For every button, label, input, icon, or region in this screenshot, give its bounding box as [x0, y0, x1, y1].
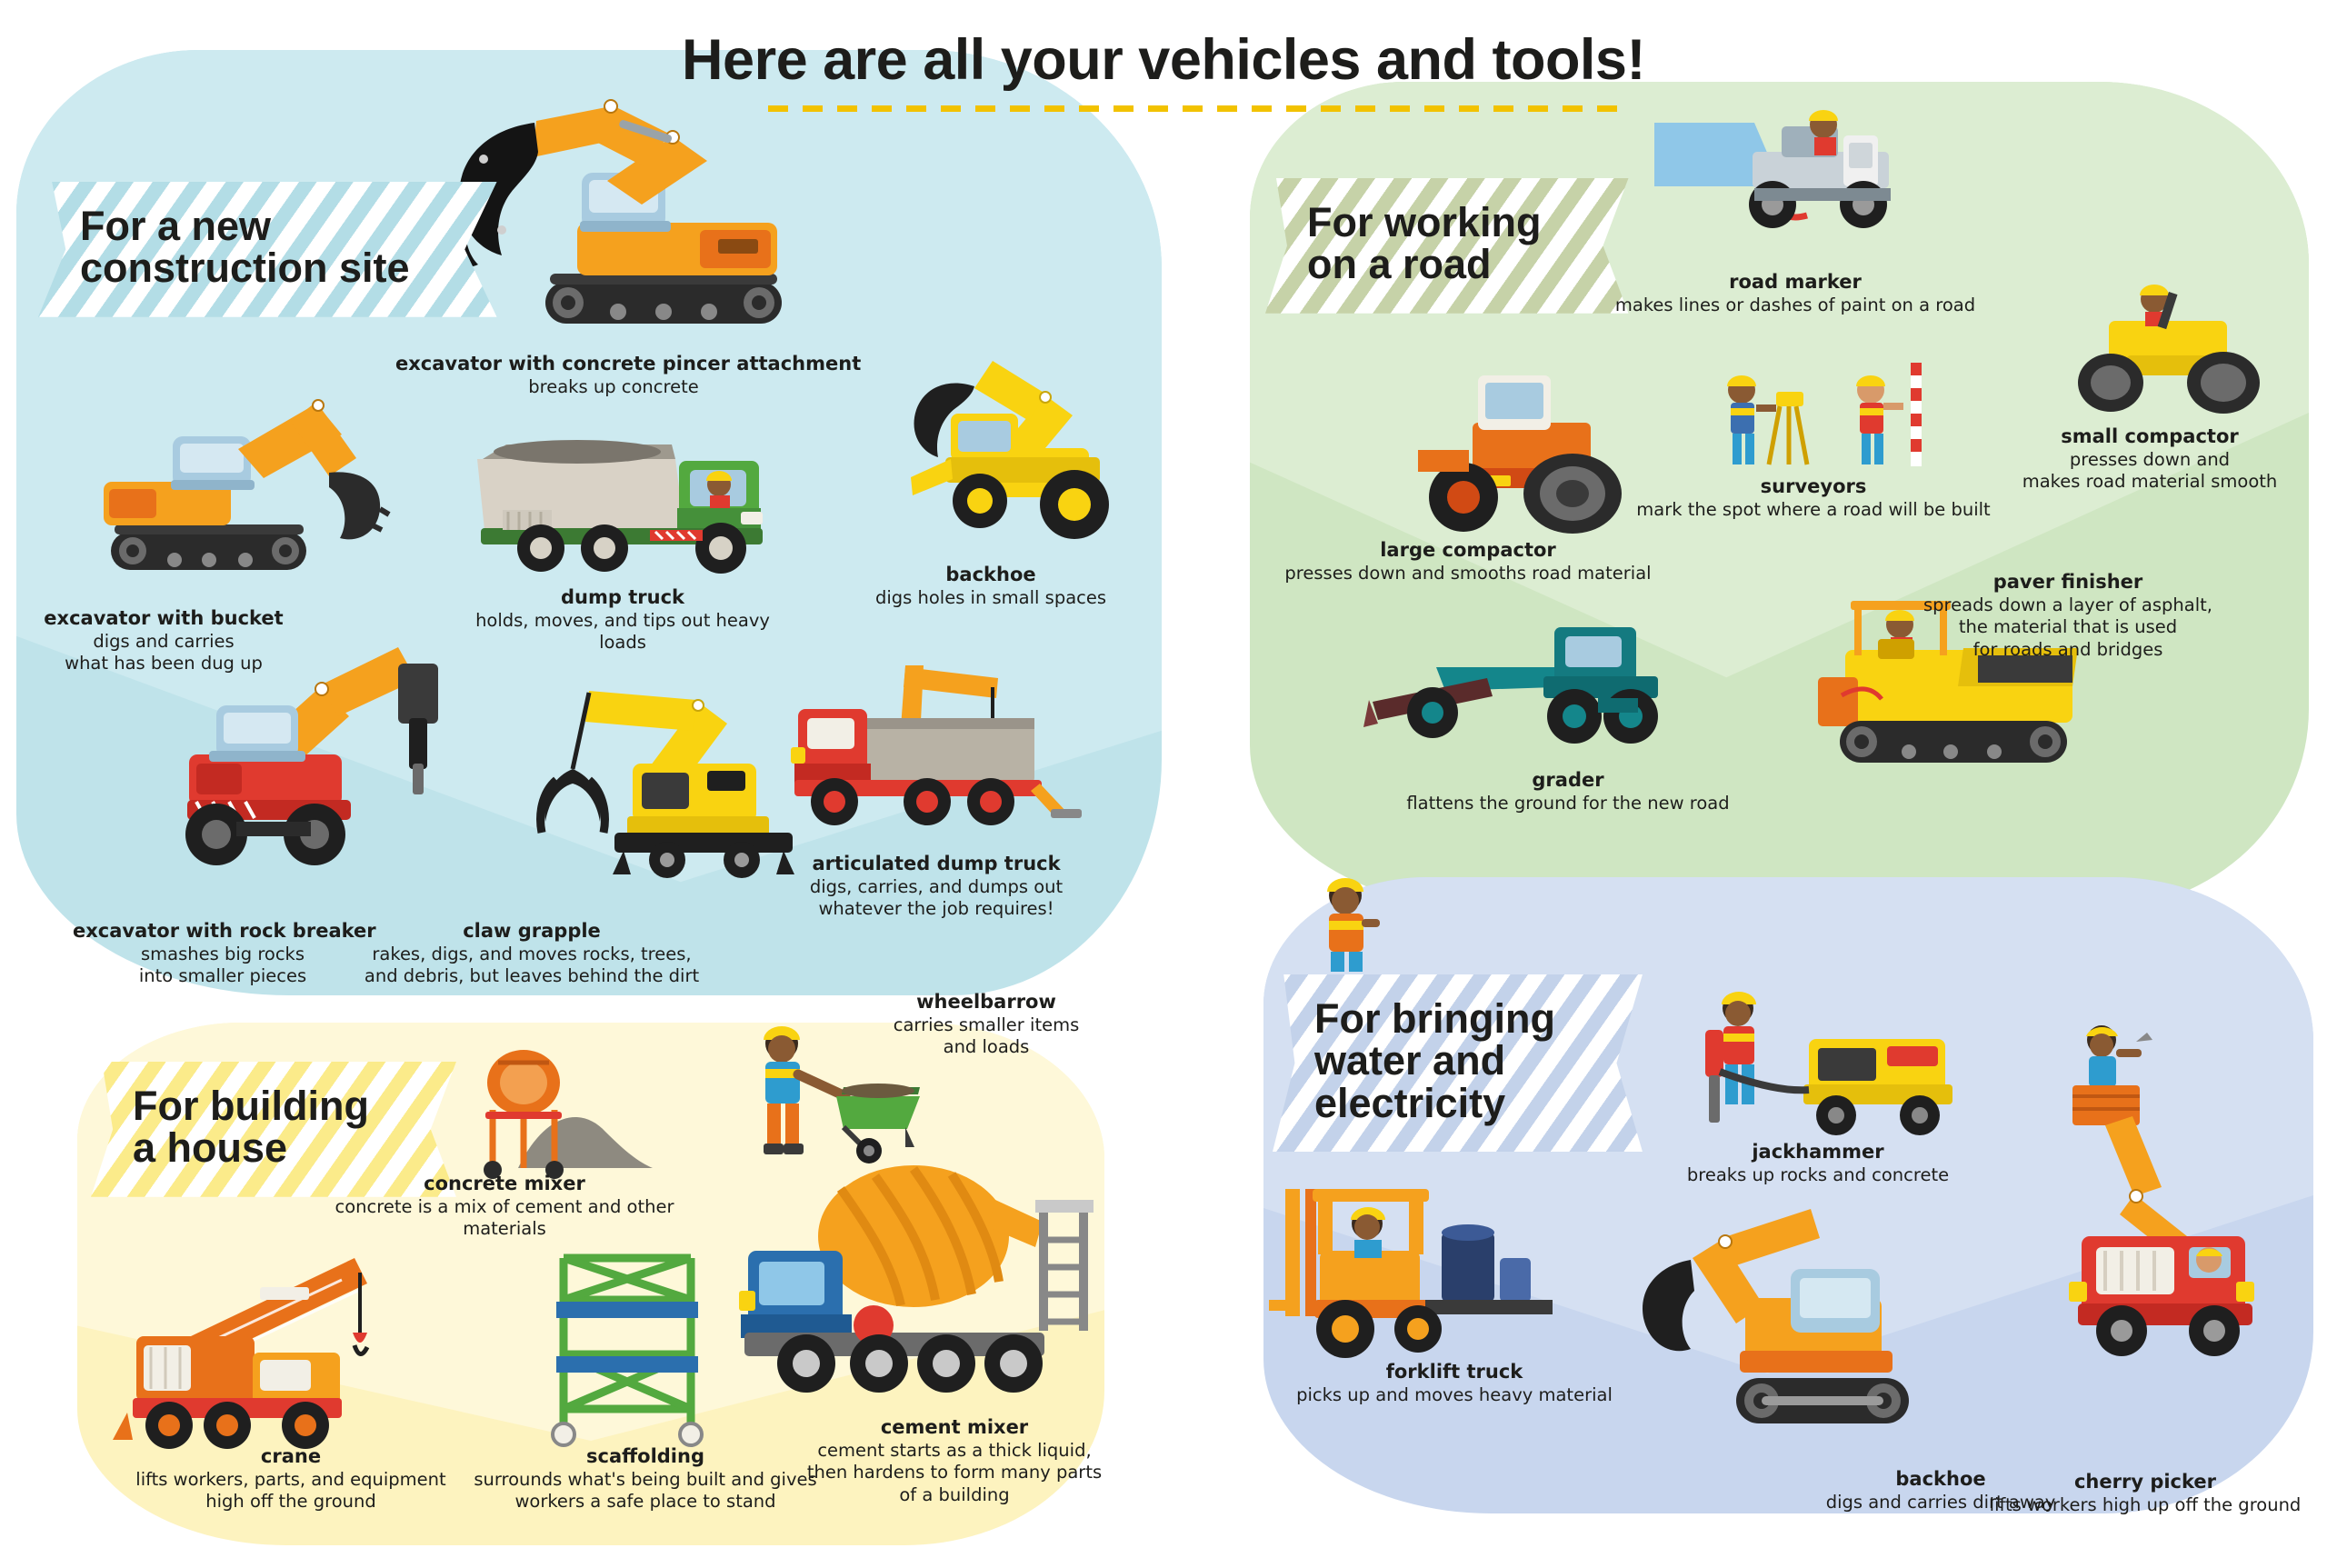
caption-forklift-truck: forklift truck picks up and moves heavy …	[1273, 1361, 1636, 1406]
item-name: large compactor	[1273, 539, 1663, 563]
illustration-grader	[1336, 591, 1700, 773]
item-name: excavator with rock breaker	[73, 920, 373, 944]
item-name: grader	[1382, 769, 1754, 793]
caption-cherry-picker: cherry picker lifts workers high up off …	[1963, 1471, 2327, 1516]
item-name: jackhammer	[1663, 1141, 1972, 1164]
item-description: lifts workers, parts, and equipment high…	[109, 1469, 473, 1513]
illustration-small-compactor	[2045, 268, 2291, 432]
caption-grader: grader flattens the ground for the new r…	[1382, 769, 1754, 814]
illustration-backhoe-site	[864, 350, 1127, 559]
illustration-surveyors	[1700, 359, 1972, 486]
section-heading-text: For building a house	[133, 1085, 369, 1170]
item-name: cherry picker	[1963, 1471, 2327, 1494]
item-description: cement starts as a thick liquid, then ha…	[800, 1440, 1109, 1507]
item-name: backhoe	[873, 564, 1109, 587]
item-description: lifts workers high up off the ground	[1963, 1494, 2327, 1517]
caption-crane: crane lifts workers, parts, and equipmen…	[109, 1445, 473, 1513]
illustration-articulated-dump-truck	[782, 627, 1109, 854]
illustration-road-marker	[1645, 86, 1936, 259]
caption-excavator-with-bucket: excavator with bucket digs and carries w…	[27, 607, 300, 675]
section-heading-text: For working on a road	[1307, 202, 1542, 286]
caption-paver-finisher: paver finisher spreads down a layer of a…	[1909, 571, 2227, 661]
item-description: presses down and smooths road material	[1273, 563, 1663, 585]
item-name: road marker	[1600, 271, 1991, 295]
caption-backhoe-site: backhoe digs holes in small spaces	[873, 564, 1109, 609]
item-name: surveyors	[1618, 475, 2009, 499]
caption-cement-mixer: cement mixer cement starts as a thick li…	[800, 1416, 1109, 1506]
illustration-cherry-picker	[2027, 1009, 2309, 1382]
caption-large-compactor: large compactor presses down and smooths…	[1273, 539, 1663, 584]
illustration-dump-truck	[468, 414, 786, 577]
caption-jackhammer: jackhammer breaks up rocks and concrete	[1663, 1141, 1972, 1186]
item-description: presses down and makes road material smo…	[2000, 449, 2300, 494]
caption-excavator-concrete-pincer: excavator with concrete pincer attachmen…	[395, 353, 832, 398]
illustration-crane	[82, 1218, 464, 1473]
item-description: breaks up rocks and concrete	[1663, 1164, 1972, 1187]
caption-wheelbarrow: wheelbarrow carries smaller items and lo…	[864, 991, 1109, 1059]
caption-small-compactor: small compactor presses down and makes r…	[2000, 425, 2300, 494]
caption-articulated-dump-truck: articulated dump truck digs, carries, an…	[782, 853, 1091, 921]
caption-road-marker: road marker makes lines or dashes of pai…	[1600, 271, 1991, 316]
item-name: claw grapple	[355, 920, 709, 944]
caption-concrete-mixer: concrete mixer concrete is a mix of ceme…	[300, 1173, 709, 1241]
item-description: holds, moves, and tips out heavy loads	[454, 610, 791, 654]
illustration-jackhammer	[1682, 977, 1982, 1159]
item-description: breaks up concrete	[395, 376, 832, 399]
item-description: concrete is a mix of cement and other ma…	[300, 1196, 709, 1241]
item-name: excavator with bucket	[27, 607, 300, 631]
title-underline-dashes	[768, 105, 1632, 112]
item-description: spreads down a layer of asphalt, the mat…	[1909, 594, 2227, 662]
caption-excavator-rock-breaker: excavator with rock breaker smashes big …	[73, 920, 373, 988]
item-description: flattens the ground for the new road	[1382, 793, 1754, 815]
item-description: smashes big rocks into smaller pieces	[73, 944, 373, 988]
item-description: rakes, digs, and moves rocks, trees, and…	[355, 944, 709, 988]
item-description: digs and carries what has been dug up	[27, 631, 300, 675]
caption-dump-truck: dump truck holds, moves, and tips out he…	[454, 586, 791, 654]
illustration-claw-grapple	[454, 654, 818, 900]
item-name: concrete mixer	[300, 1173, 709, 1196]
item-name: paver finisher	[1909, 571, 2227, 594]
illustration-concrete-mixer	[445, 1032, 673, 1186]
section-heading-text: For bringing water and electricity	[1314, 998, 1555, 1124]
caption-claw-grapple: claw grapple rakes, digs, and moves rock…	[355, 920, 709, 988]
item-name: articulated dump truck	[782, 853, 1091, 876]
item-description: digs holes in small spaces	[873, 587, 1109, 610]
item-name: cement mixer	[800, 1416, 1109, 1440]
illustration-scaffolding	[536, 1245, 718, 1463]
illustration-forklift-truck	[1273, 1173, 1573, 1373]
item-name: dump truck	[454, 586, 791, 610]
illustration-standing-worker	[1309, 868, 1391, 977]
item-description: mark the spot where a road will be built	[1618, 499, 2009, 522]
item-description: carries smaller items and loads	[864, 1014, 1109, 1059]
section-header-working-on-a-road: For working on a road	[1265, 178, 1629, 314]
item-name: scaffolding	[454, 1445, 836, 1469]
item-name: excavator with concrete pincer attachmen…	[395, 353, 832, 376]
illustration-excavator-with-bucket	[56, 382, 411, 600]
item-description: surrounds what's being built and gives w…	[454, 1469, 836, 1513]
section-header-water-electricity: For bringing water and electricity	[1273, 974, 1643, 1152]
caption-surveyors: surveyors mark the spot where a road wil…	[1618, 475, 2009, 521]
illustration-cement-mixer-truck	[723, 1145, 1104, 1418]
item-name: small compactor	[2000, 425, 2300, 449]
item-description: makes lines or dashes of paint on a road	[1600, 295, 1991, 317]
illustration-backhoe-water	[1627, 1191, 1954, 1463]
item-name: forklift truck	[1273, 1361, 1636, 1384]
illustration-large-compactor	[1363, 359, 1654, 541]
item-description: digs, carries, and dumps out whatever th…	[782, 876, 1091, 921]
section-header-construction-site: For a new construction site	[38, 182, 497, 317]
page-title: Here are all your vehicles and tools!	[0, 27, 2327, 93]
section-heading-text: For a new construction site	[80, 205, 410, 290]
item-name: crane	[109, 1445, 473, 1469]
item-description: picks up and moves heavy material	[1273, 1384, 1636, 1407]
caption-scaffolding: scaffolding surrounds what's being built…	[454, 1445, 836, 1513]
item-name: wheelbarrow	[864, 991, 1109, 1014]
